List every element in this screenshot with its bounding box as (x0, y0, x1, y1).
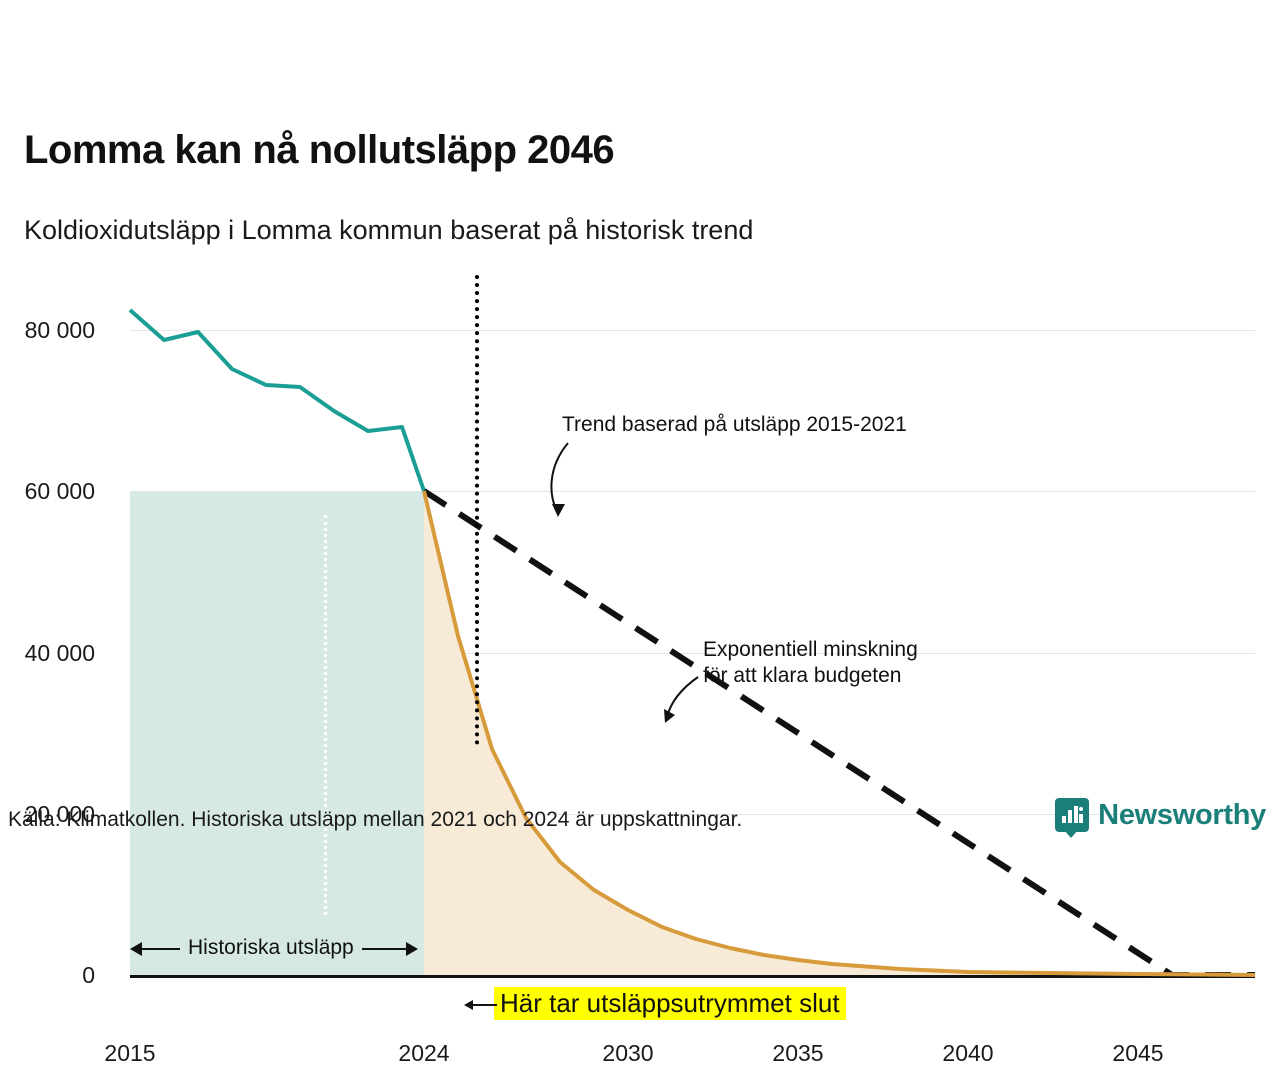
plot-region: 80 000 60 000 40 000 20 000 0 (130, 295, 1255, 985)
page-subtitle: Koldioxidutsläpp i Lomma kommun baserat … (24, 215, 753, 246)
xtick-label-2040: 2040 (942, 1040, 993, 1067)
xtick-label-2035: 2035 (772, 1040, 823, 1067)
series-svg (130, 295, 1255, 995)
ytick-label-60000: 60 000 (25, 478, 95, 505)
page-title: Lomma kan nå nollutsläpp 2046 (24, 128, 614, 173)
exclamation-stem-icon (1079, 814, 1083, 823)
chart-area: 80 000 60 000 40 000 20 000 0 (0, 275, 1280, 795)
budget-end-vline (475, 275, 479, 745)
newsworthy-logo-icon (1055, 798, 1089, 832)
historical-span-arrow-right-head (406, 942, 418, 956)
source-note: Källa: Klimatkollen. Historiska utsläpp … (8, 808, 742, 832)
xtick-label-2045: 2045 (1112, 1040, 1163, 1067)
exponential-annotation-line2: för att klara budgeten (703, 664, 901, 688)
xtick-label-2030: 2030 (602, 1040, 653, 1067)
historical-label: Historiska utsläpp (180, 936, 362, 960)
historical-line (130, 310, 424, 491)
exponential-annotation-arrow (667, 677, 698, 717)
xtick-label-2015: 2015 (104, 1040, 155, 1067)
budget-end-label: Här tar utsläppsutrymmet slut (494, 987, 846, 1020)
trend-annotation-label: Trend baserad på utsläpp 2015-2021 (562, 413, 907, 437)
exponential-area (424, 491, 1240, 975)
bar-chart-icon (1062, 806, 1078, 823)
ytick-label-0: 0 (82, 962, 95, 989)
chart-page: Lomma kan nå nollutsläpp 2046 Koldioxidu… (0, 0, 1280, 960)
newsworthy-logo: Newsworthy (1055, 798, 1266, 832)
trend-annotation-arrow (551, 443, 568, 513)
trend-annotation-arrowhead (552, 504, 565, 517)
xtick-label-2024: 2024 (398, 1040, 449, 1067)
exponential-annotation-line1: Exponentiell minskning (703, 638, 918, 662)
newsworthy-logo-text: Newsworthy (1098, 799, 1266, 832)
ytick-label-40000: 40 000 (25, 640, 95, 667)
budget-end-arrow (464, 995, 498, 1015)
historical-span-arrow-left-head (130, 942, 142, 956)
exclamation-dot-icon (1079, 807, 1083, 811)
ytick-label-80000: 80 000 (25, 317, 95, 344)
